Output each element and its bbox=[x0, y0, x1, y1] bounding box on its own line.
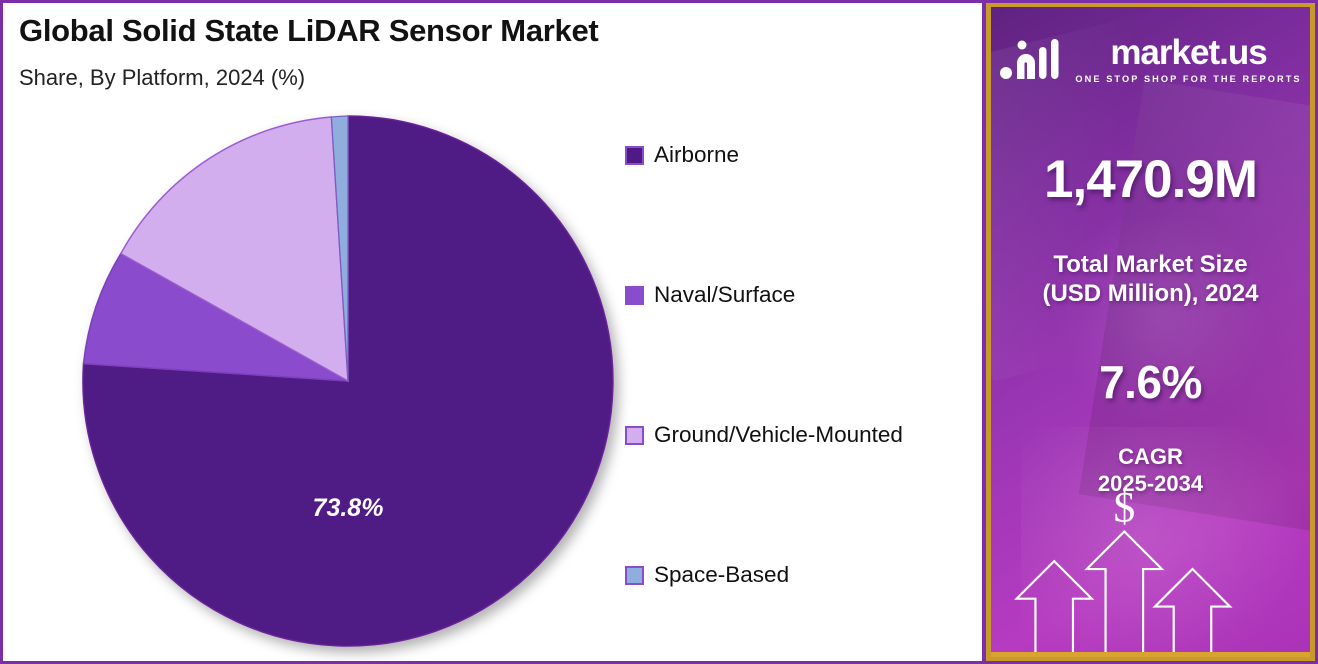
market-size-value: 1,470.9M bbox=[991, 149, 1310, 210]
legend-label: Space-Based bbox=[654, 564, 789, 587]
market-size-caption: Total Market Size (USD Million), 2024 bbox=[991, 250, 1310, 309]
pie-slices bbox=[83, 116, 613, 646]
stats-panel: market.us ONE STOP SHOP FOR THE REPORTS … bbox=[982, 3, 1315, 661]
cagr-value: 7.6% bbox=[991, 355, 1310, 409]
arrow-up-icon bbox=[1087, 532, 1162, 656]
legend-item-airborne[interactable]: Airborne bbox=[625, 144, 739, 167]
page-title: Global Solid State LiDAR Sensor Market bbox=[19, 13, 598, 49]
legend-item-naval-surface[interactable]: Naval/Surface bbox=[625, 284, 795, 307]
legend-swatch-icon bbox=[625, 566, 644, 585]
brand-name: market.us bbox=[1110, 35, 1266, 70]
market-us-logo-icon bbox=[999, 33, 1061, 85]
legend-swatch-icon bbox=[625, 286, 644, 305]
market-size-caption-line1: Total Market Size bbox=[991, 250, 1310, 279]
brand-logo-text: market.us ONE STOP SHOP FOR THE REPORTS bbox=[1075, 35, 1301, 84]
brand-tagline: ONE STOP SHOP FOR THE REPORTS bbox=[1075, 74, 1301, 84]
stats-panel-inner: market.us ONE STOP SHOP FOR THE REPORTS … bbox=[986, 3, 1315, 661]
legend-item-space-based[interactable]: Space-Based bbox=[625, 564, 789, 587]
pie-slice-value-label: 73.8% bbox=[313, 494, 384, 522]
cagr-caption-line1: CAGR bbox=[991, 444, 1310, 471]
arrow-up-icon bbox=[1155, 569, 1230, 656]
dollar-icon: $ bbox=[1113, 487, 1135, 532]
legend-swatch-icon bbox=[625, 146, 644, 165]
growth-arrows-graphic: $ bbox=[991, 487, 1310, 657]
panel-bottom-divider bbox=[991, 652, 1310, 657]
legend-label: Airborne bbox=[654, 144, 739, 167]
legend-swatch-icon bbox=[625, 426, 644, 445]
legend-label: Naval/Surface bbox=[654, 284, 795, 307]
chart-pane: Global Solid State LiDAR Sensor Market S… bbox=[3, 3, 988, 661]
chart-legend: Airborne Naval/Surface Ground/Vehicle-Mo… bbox=[625, 131, 985, 631]
infographic-frame: Global Solid State LiDAR Sensor Market S… bbox=[0, 0, 1318, 664]
pie-chart-svg: 73.8% bbox=[63, 98, 643, 661]
legend-item-ground-vehicle-mounted[interactable]: Ground/Vehicle-Mounted bbox=[625, 424, 903, 447]
legend-label: Ground/Vehicle-Mounted bbox=[654, 424, 903, 447]
market-size-caption-line2: (USD Million), 2024 bbox=[991, 279, 1310, 308]
pie-chart: 73.8% bbox=[63, 98, 643, 661]
chart-subtitle: Share, By Platform, 2024 (%) bbox=[19, 65, 305, 91]
arrow-up-icon bbox=[1017, 561, 1092, 656]
brand-logo[interactable]: market.us ONE STOP SHOP FOR THE REPORTS bbox=[991, 33, 1310, 85]
